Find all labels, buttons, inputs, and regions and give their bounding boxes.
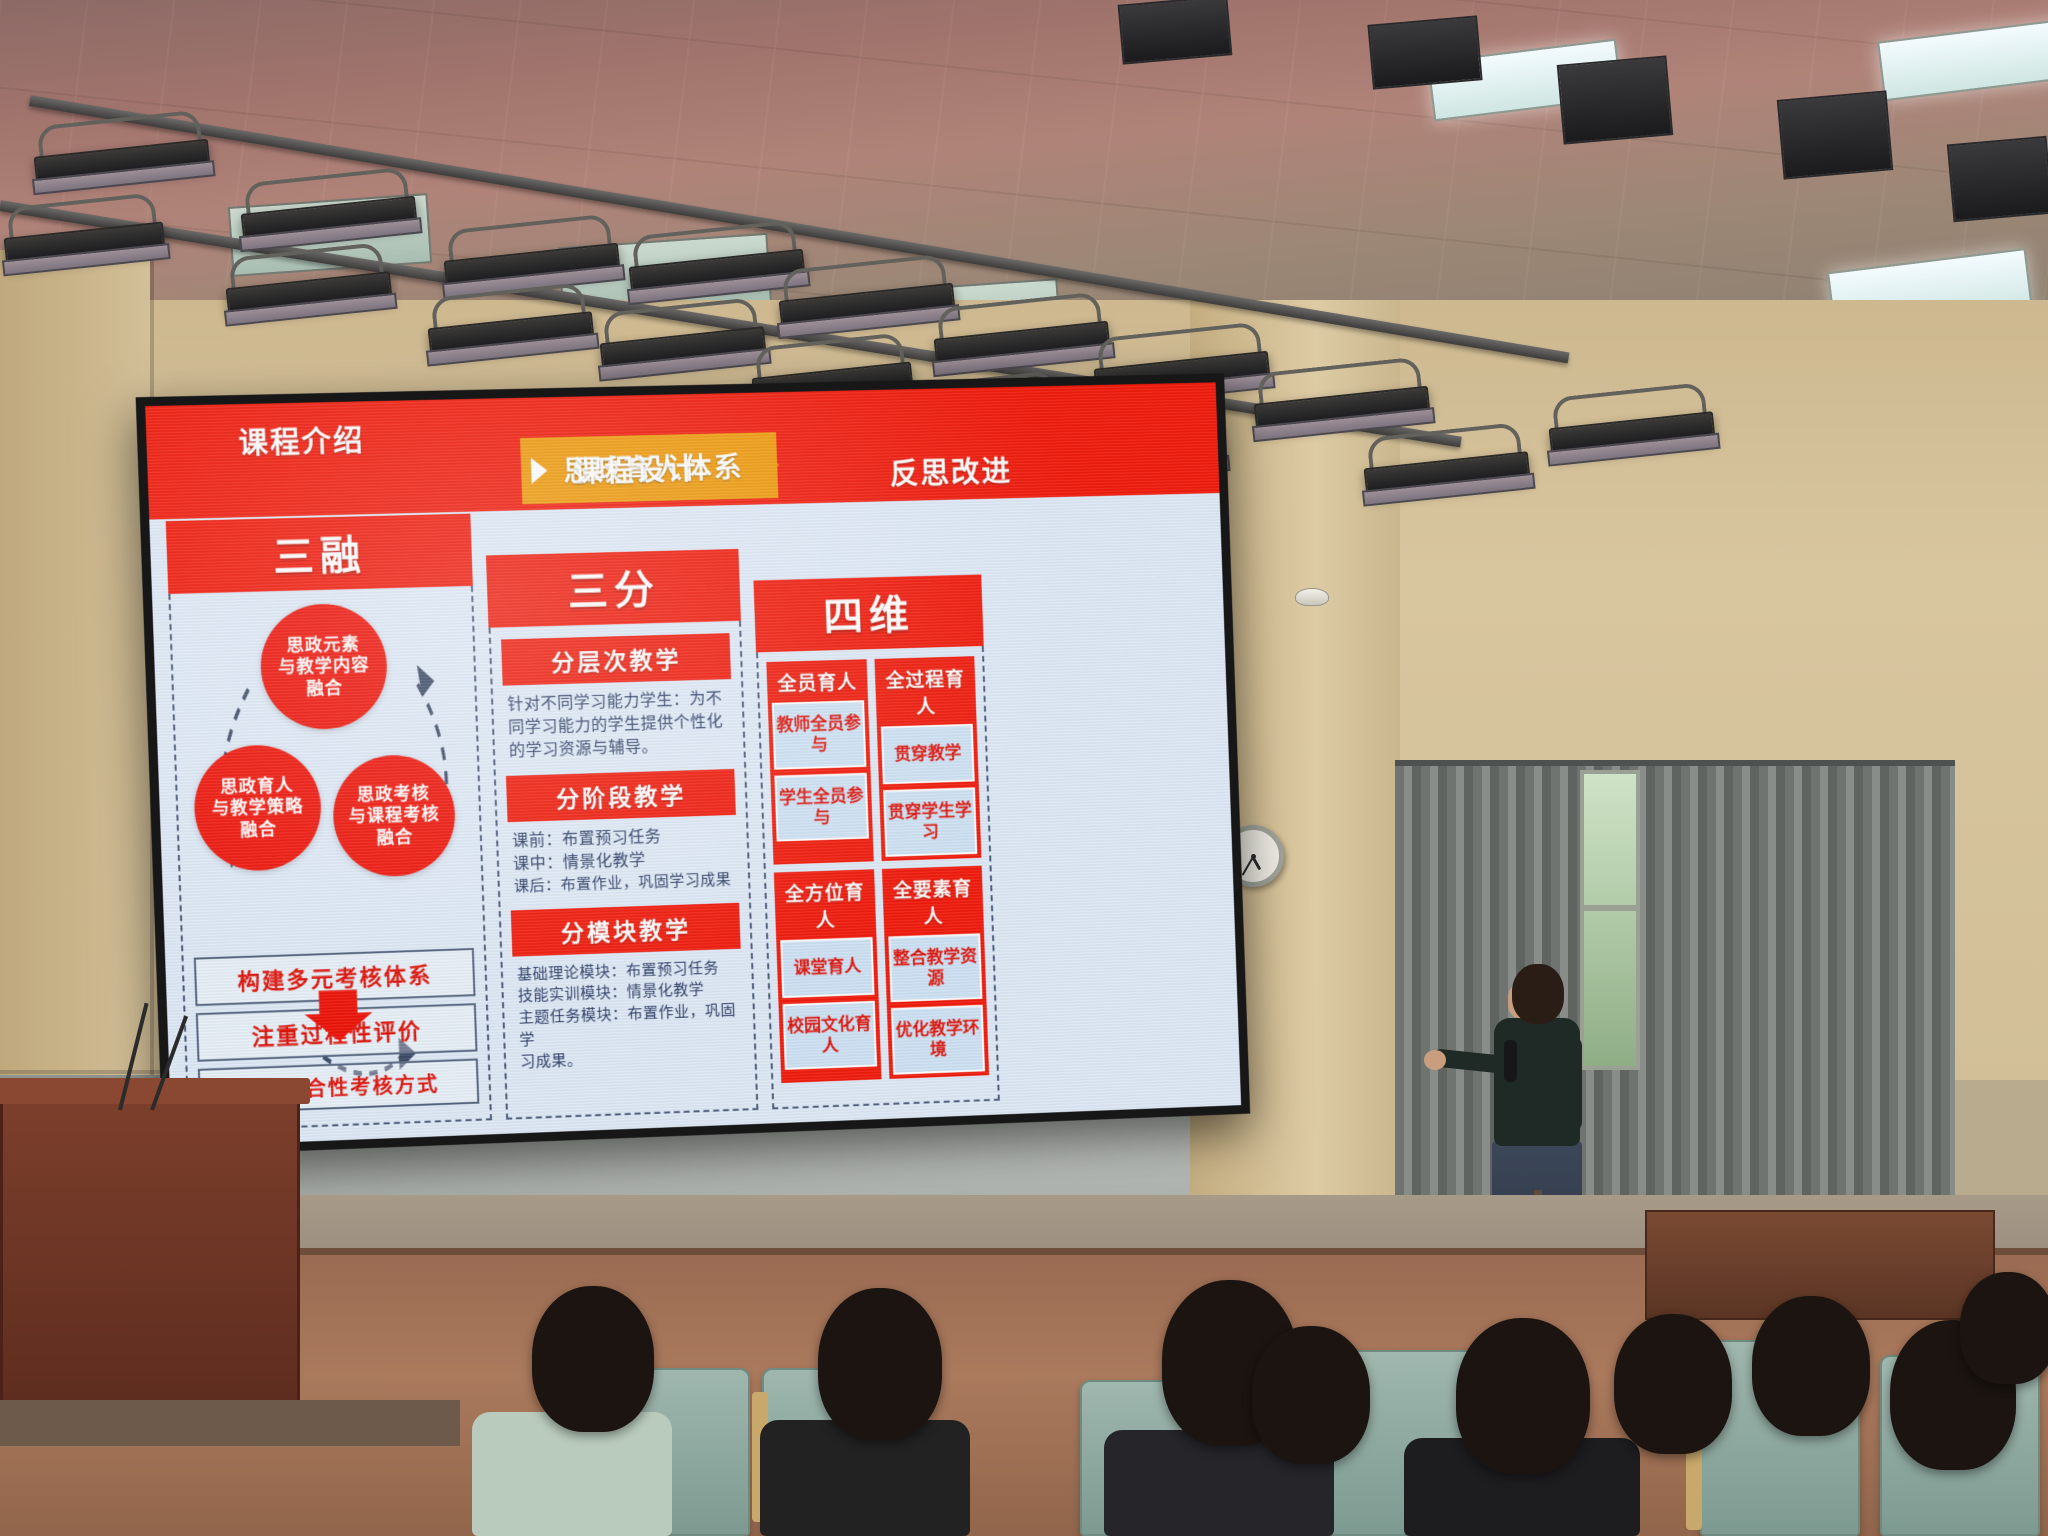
presenter-left-hand — [1424, 1050, 1446, 1070]
quadrant3-item-2: 校园文化育人 — [782, 1000, 877, 1070]
quadrant1-item-2: 学生全员参与 — [774, 772, 869, 841]
column2-title: 三分 — [486, 549, 741, 628]
quadrant-1: 全员育人 教师全员参与 学生全员参与 — [766, 659, 873, 864]
circle-element-1: 思政元素 与教学内容 融合 — [259, 602, 389, 731]
quadrant4-heading: 全要素育人 — [886, 869, 980, 936]
column1-title: 三融 — [166, 514, 473, 594]
circle-element-2: 思政育人 与教学策略 融合 — [192, 743, 323, 872]
block2-heading: 分阶段教学 — [506, 769, 736, 822]
quadrant-grid: 全员育人 教师全员参与 学生全员参与 全过程育人 贯穿教学 贯穿学生学习 全方位… — [764, 654, 991, 1085]
audience-head — [1752, 1296, 1870, 1436]
quadrant2-item-2: 贯穿学生学习 — [883, 787, 977, 856]
lectern-podium — [0, 1090, 300, 1420]
lectern-base — [0, 1400, 460, 1446]
nav-tab-course-intro[interactable]: 课程介绍 — [238, 417, 366, 462]
nav-tab-reflection[interactable]: 反思改进 — [889, 448, 1013, 493]
column3-title: 四维 — [753, 574, 983, 652]
clock-center-pin — [1251, 854, 1256, 859]
column1-content: 思政元素 与教学内容 融合 思政育人 与教学策略 融合 — [168, 586, 492, 1132]
light-flag-panel — [1118, 0, 1233, 65]
column-san-rong: 三融 思政元素 与教学内 — [166, 514, 492, 1132]
block1-body: 针对不同学习能力学生：为不 同学习能力的学生提供个性化 的学习资源与辅导。 — [497, 687, 740, 772]
nav-tab-course-design[interactable]: 课程设计 — [573, 446, 699, 491]
column-san-fen: 三分 分层次教学 针对不同学习能力学生：为不 同学习能力的学生提供个性化 的学习… — [484, 507, 758, 1120]
outcome-item-1: 构建多元考核体系 — [194, 948, 476, 1006]
quadrant4-item-1: 整合教学资源 — [888, 933, 982, 1002]
clock-minute-hand — [1242, 857, 1254, 876]
column2-content: 分层次教学 针对不同学习能力学生：为不 同学习能力的学生提供个性化 的学习资源与… — [489, 621, 759, 1120]
audience-head — [1252, 1326, 1370, 1464]
block1-heading: 分层次教学 — [501, 633, 731, 686]
window-mullion — [1580, 905, 1640, 911]
column-si-wei: 四维 全员育人 教师全员参与 学生全员参与 全过程育人 贯穿教学 贯穿 — [751, 501, 1000, 1109]
left-wall — [0, 250, 150, 1150]
audience-head — [1456, 1318, 1590, 1474]
lecture-hall-photo: 课程介绍 思政育人体系 课程设计 反思改进 三融 — [0, 0, 2048, 1536]
column3-content: 全员育人 教师全员参与 学生全员参与 全过程育人 贯穿教学 贯穿学生学习 全方位… — [756, 646, 1000, 1109]
audience-head — [818, 1288, 942, 1440]
block3-heading: 分模块教学 — [511, 902, 741, 956]
audience-head — [1960, 1272, 2048, 1384]
circle2-line3: 融合 — [240, 819, 277, 839]
light-flag-panel — [1947, 136, 2048, 222]
window — [1580, 770, 1640, 1070]
quadrant-4: 全要素育人 整合教学资源 优化教学环境 — [882, 865, 989, 1078]
circle3-line1: 思政考核 — [357, 784, 431, 805]
quadrant2-heading: 全过程育人 — [879, 660, 973, 726]
presenter-head — [1512, 964, 1564, 1024]
circle1-line2: 与教学内容 — [278, 656, 370, 678]
quadrant-3: 全方位育人 课堂育人 校园文化育人 — [774, 869, 882, 1083]
audience-head — [532, 1286, 654, 1432]
microphone-icon — [1504, 1040, 1517, 1082]
light-flag-panel — [1367, 15, 1482, 89]
circle1-line3: 融合 — [306, 678, 343, 698]
quadrant-2: 全过程育人 贯穿教学 贯穿学生学习 — [874, 656, 981, 860]
slide-canvas: 课程介绍 思政育人体系 课程设计 反思改进 三融 — [145, 382, 1241, 1146]
outcome-item-2: 注重过程性评价 — [196, 1003, 478, 1062]
led-display-screen[interactable]: 课程介绍 思政育人体系 课程设计 反思改进 三融 — [136, 373, 1251, 1156]
quadrant2-item-1: 贯穿教学 — [881, 724, 975, 784]
smoke-detector-icon — [1295, 588, 1329, 606]
light-flag-panel — [1777, 90, 1894, 179]
slide-body: 三融 思政元素 与教学内 — [149, 485, 1241, 1147]
quadrant3-item-1: 课堂育人 — [780, 937, 874, 998]
circle1-line1: 思政元素 — [286, 634, 360, 655]
presenter-right-arm — [1560, 1036, 1582, 1132]
circle3-line2: 与课程考核 — [348, 805, 440, 827]
audience-head — [1614, 1314, 1732, 1454]
quadrant4-item-2: 优化教学环境 — [891, 1005, 985, 1074]
circle2-line2: 与教学策略 — [212, 797, 304, 819]
light-flag-panel — [1557, 55, 1674, 144]
quadrant3-heading: 全方位育人 — [778, 873, 873, 940]
quadrant1-item-1: 教师全员参与 — [772, 700, 867, 769]
clock-hour-hand — [1252, 857, 1262, 871]
circle-element-3: 思政考核 与课程考核 融合 — [331, 753, 457, 878]
circle3-line3: 融合 — [376, 827, 413, 847]
quadrant1-heading: 全员育人 — [770, 663, 864, 703]
block3-body: 基础理论模块：布置预习任务 技能实训模块：情景化教学 主题任务模块：布置作业，巩… — [507, 956, 751, 1082]
circle2-line1: 思政育人 — [220, 776, 294, 797]
block2-body: 课前：布置预习任务 课中：情景化教学 课后：布置作业，巩固学习成果 — [502, 822, 745, 906]
